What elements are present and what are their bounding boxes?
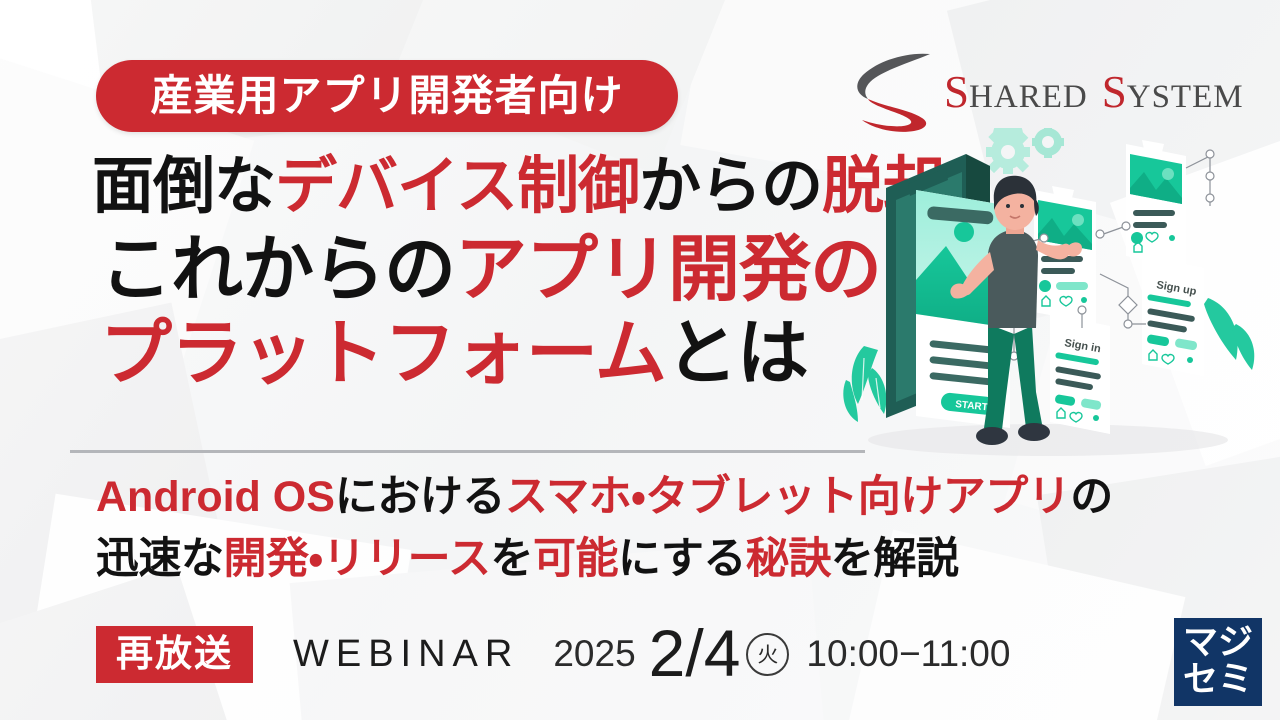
subtitle-seg: を解説 <box>831 535 959 583</box>
event-date: 2/4 <box>649 624 741 683</box>
subtitle-line-1: Android OSにおけるスマホ・タブレット向けアプリの <box>96 476 1126 519</box>
plant-left <box>843 346 886 422</box>
wireframe-screen-2 <box>1126 140 1186 268</box>
day-of-week-badge: 火 <box>746 633 789 676</box>
subtitle-seg: にする <box>618 535 746 583</box>
wireframe-screen-signup: Sign up <box>1142 252 1204 376</box>
headline-seg: アプリ開発の <box>455 230 881 310</box>
subtitle-seg: 秘訣 <box>746 535 831 583</box>
subtitle-seg: Android OS <box>96 473 335 521</box>
page-subtitle: Android OSにおけるスマホ・タブレット向けアプリの 迅速な開発・リリース… <box>96 476 1126 581</box>
app-development-illustration: START <box>838 128 1280 468</box>
gear-small-icon <box>1032 128 1064 158</box>
event-time-range: 10:00−11:00 <box>806 633 1010 675</box>
swoosh-icon <box>852 50 938 134</box>
logo-ystem: YSTEM <box>1127 79 1244 115</box>
subtitle-seg: スマホ・タブレット向けアプリ <box>505 473 1070 521</box>
shared-system-logo: SHAREDSYSTEM <box>852 48 1224 136</box>
subtitle-seg: 可能 <box>533 535 618 583</box>
subtitle-seg: 開発・リリース <box>224 535 491 583</box>
subtitle-seg: を <box>490 535 533 583</box>
subtitle-seg: の <box>1070 473 1113 521</box>
webinar-label: WEBINAR <box>293 633 519 676</box>
audience-badge: 産業用アプリ開発者向け <box>96 60 678 132</box>
section-divider <box>70 450 865 453</box>
majisemi-logo: マジ セミ <box>1174 618 1262 706</box>
logo-hared: HARED <box>969 79 1088 115</box>
subtitle-line-2: 迅速な開発・リリースを可能にする秘訣を解説 <box>96 538 1126 581</box>
headline-seg: からの <box>639 152 822 221</box>
headline-seg: 面倒な <box>92 152 275 221</box>
majisemi-line-1: マジ <box>1183 625 1253 662</box>
headline-line-2: これからのアプリ開発の <box>100 234 922 306</box>
rebroadcast-badge: 再放送 <box>96 626 253 683</box>
shared-system-wordmark: SHAREDSYSTEM <box>944 70 1244 115</box>
page-title: 面倒なデバイス制御からの脱却 これからのアプリ開発の プラットフォームとは <box>92 156 922 390</box>
wireframe-screen-signin: Sign in <box>1050 310 1110 434</box>
headline-seg: プラットフォーム <box>100 314 666 394</box>
headline-line-1: 面倒なデバイス制御からの脱却 <box>92 156 922 218</box>
schedule-bar: 再放送 WEBINAR 2025 2/4 火 10:00−11:00 <box>96 618 1010 690</box>
logo-s1: S <box>944 67 969 117</box>
event-year: 2025 <box>553 633 635 675</box>
webinar-banner: 産業用アプリ開発者向け SHAREDSYSTEM 面倒なデバイス制御からの脱却 … <box>0 0 1280 720</box>
headline-seg: とは <box>666 314 808 394</box>
logo-s2: S <box>1102 67 1127 117</box>
subtitle-seg: 迅速な <box>96 535 224 583</box>
headline-seg: これからの <box>100 230 455 310</box>
majisemi-line-2: セミ <box>1183 662 1253 699</box>
gears-icon <box>986 128 1030 174</box>
audience-badge-label: 産業用アプリ開発者向け <box>150 75 623 117</box>
subtitle-seg: における <box>335 473 505 521</box>
plant-right <box>1204 298 1254 370</box>
headline-seg: デバイス制御 <box>275 152 639 221</box>
headline-line-3: プラットフォームとは <box>100 318 922 390</box>
